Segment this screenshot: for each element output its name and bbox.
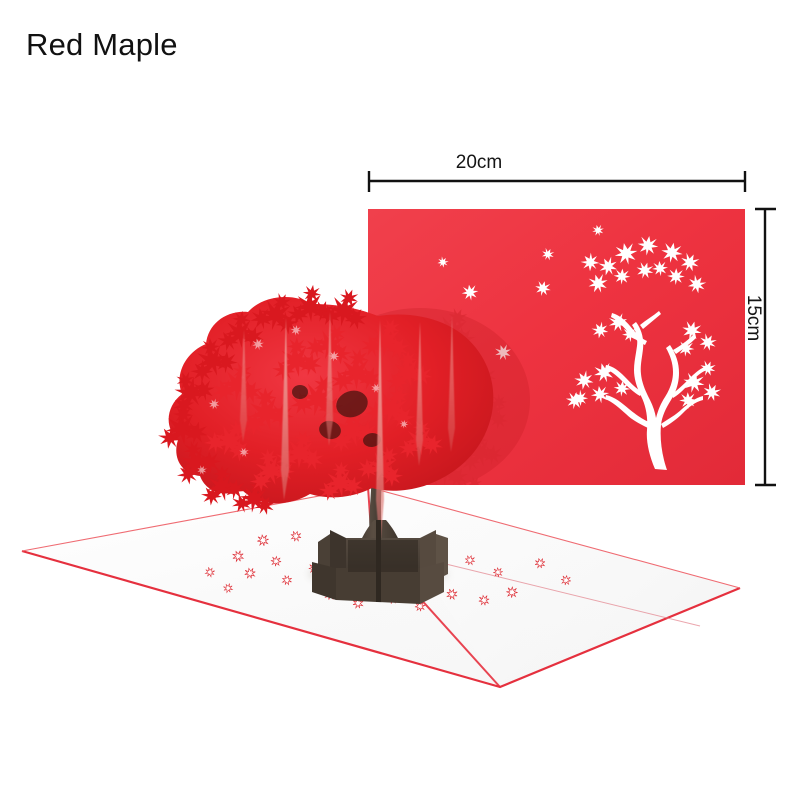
card-illustration xyxy=(0,0,800,800)
page-title: Red Maple xyxy=(26,26,178,64)
dimension-width xyxy=(369,171,745,192)
dimension-height xyxy=(755,209,776,485)
height-dimension-label: 15cm xyxy=(742,295,764,341)
product-photo: Red Maple 20cm 15cm xyxy=(0,0,800,800)
